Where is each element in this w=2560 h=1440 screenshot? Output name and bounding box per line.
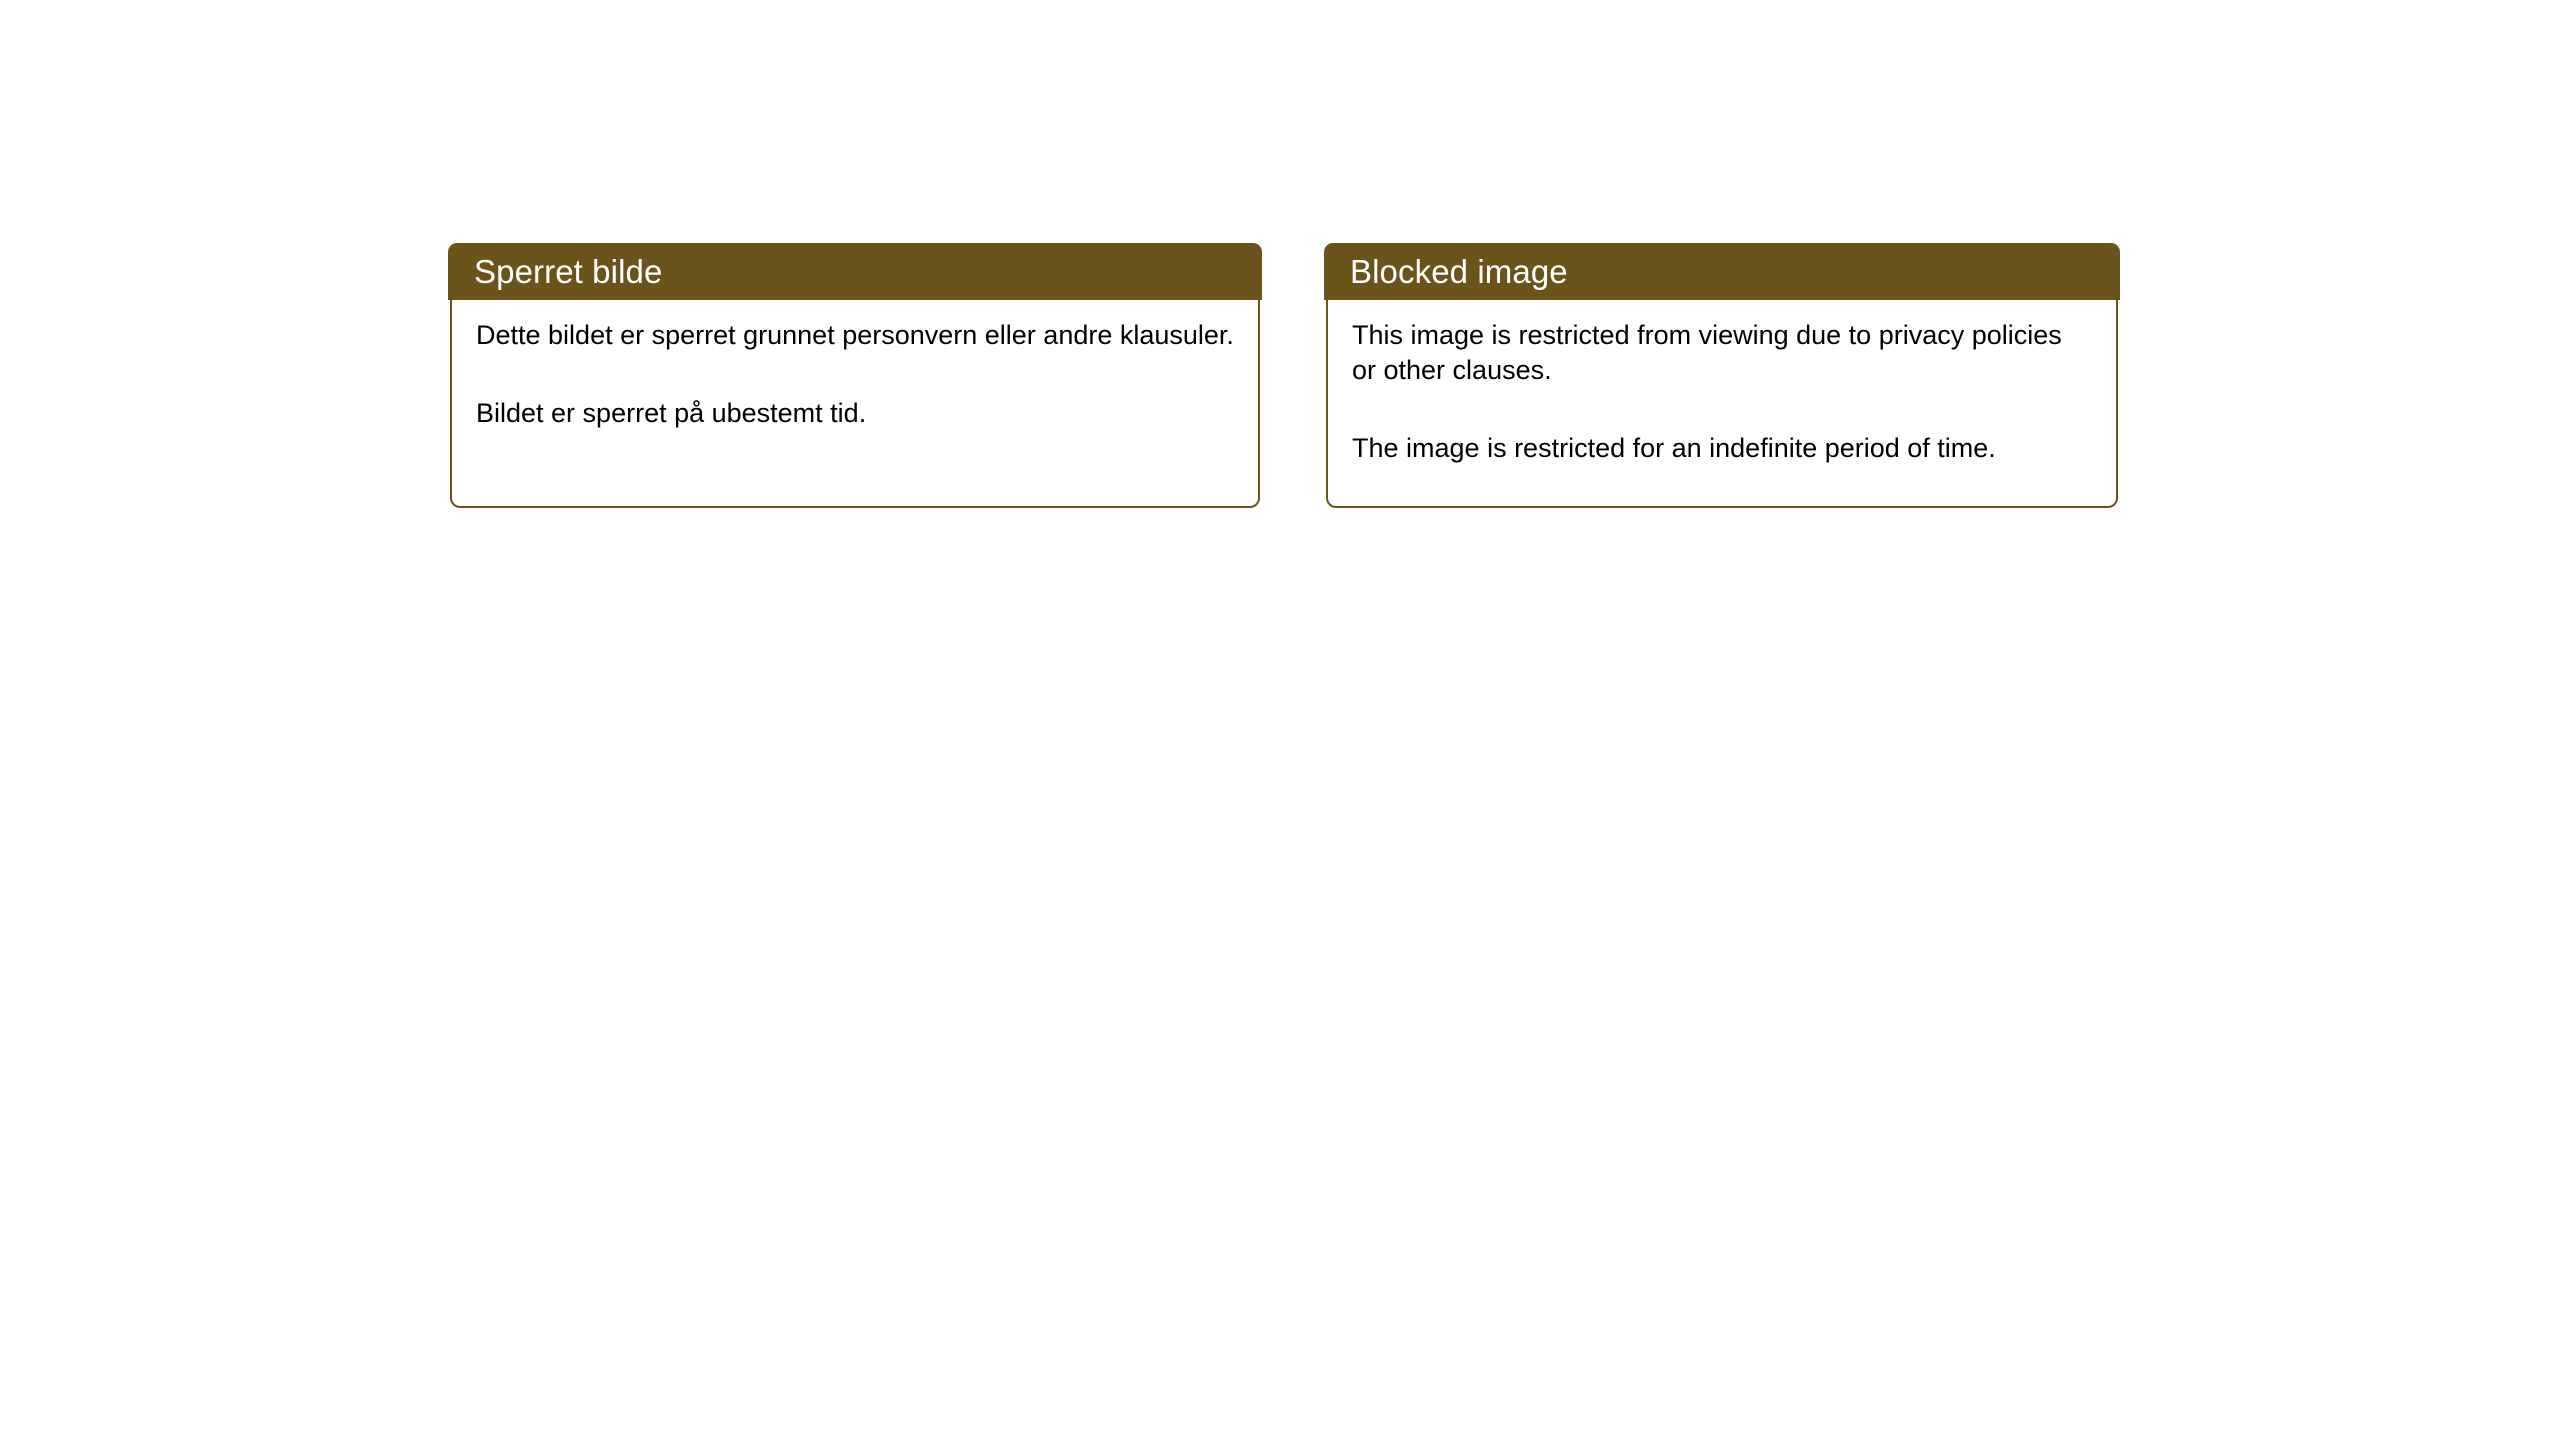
card-header-norwegian: Sperret bilde [448, 243, 1262, 300]
card-title-norwegian: Sperret bilde [474, 255, 662, 288]
card-paragraph: Bildet er sperret på ubestemt tid. [476, 396, 1234, 431]
blocked-image-card-norwegian: Sperret bilde Dette bildet er sperret gr… [448, 243, 1262, 508]
card-header-english: Blocked image [1324, 243, 2120, 300]
card-paragraph: The image is restricted for an indefinit… [1352, 431, 2092, 466]
card-body-english: This image is restricted from viewing du… [1326, 300, 2118, 508]
card-paragraph: Dette bildet er sperret grunnet personve… [476, 318, 1234, 353]
card-paragraph: This image is restricted from viewing du… [1352, 318, 2092, 388]
card-title-english: Blocked image [1350, 255, 1568, 288]
card-body-norwegian: Dette bildet er sperret grunnet personve… [450, 300, 1260, 508]
blocked-image-notice-area: Sperret bilde Dette bildet er sperret gr… [448, 243, 2120, 508]
blocked-image-card-english: Blocked image This image is restricted f… [1324, 243, 2120, 508]
